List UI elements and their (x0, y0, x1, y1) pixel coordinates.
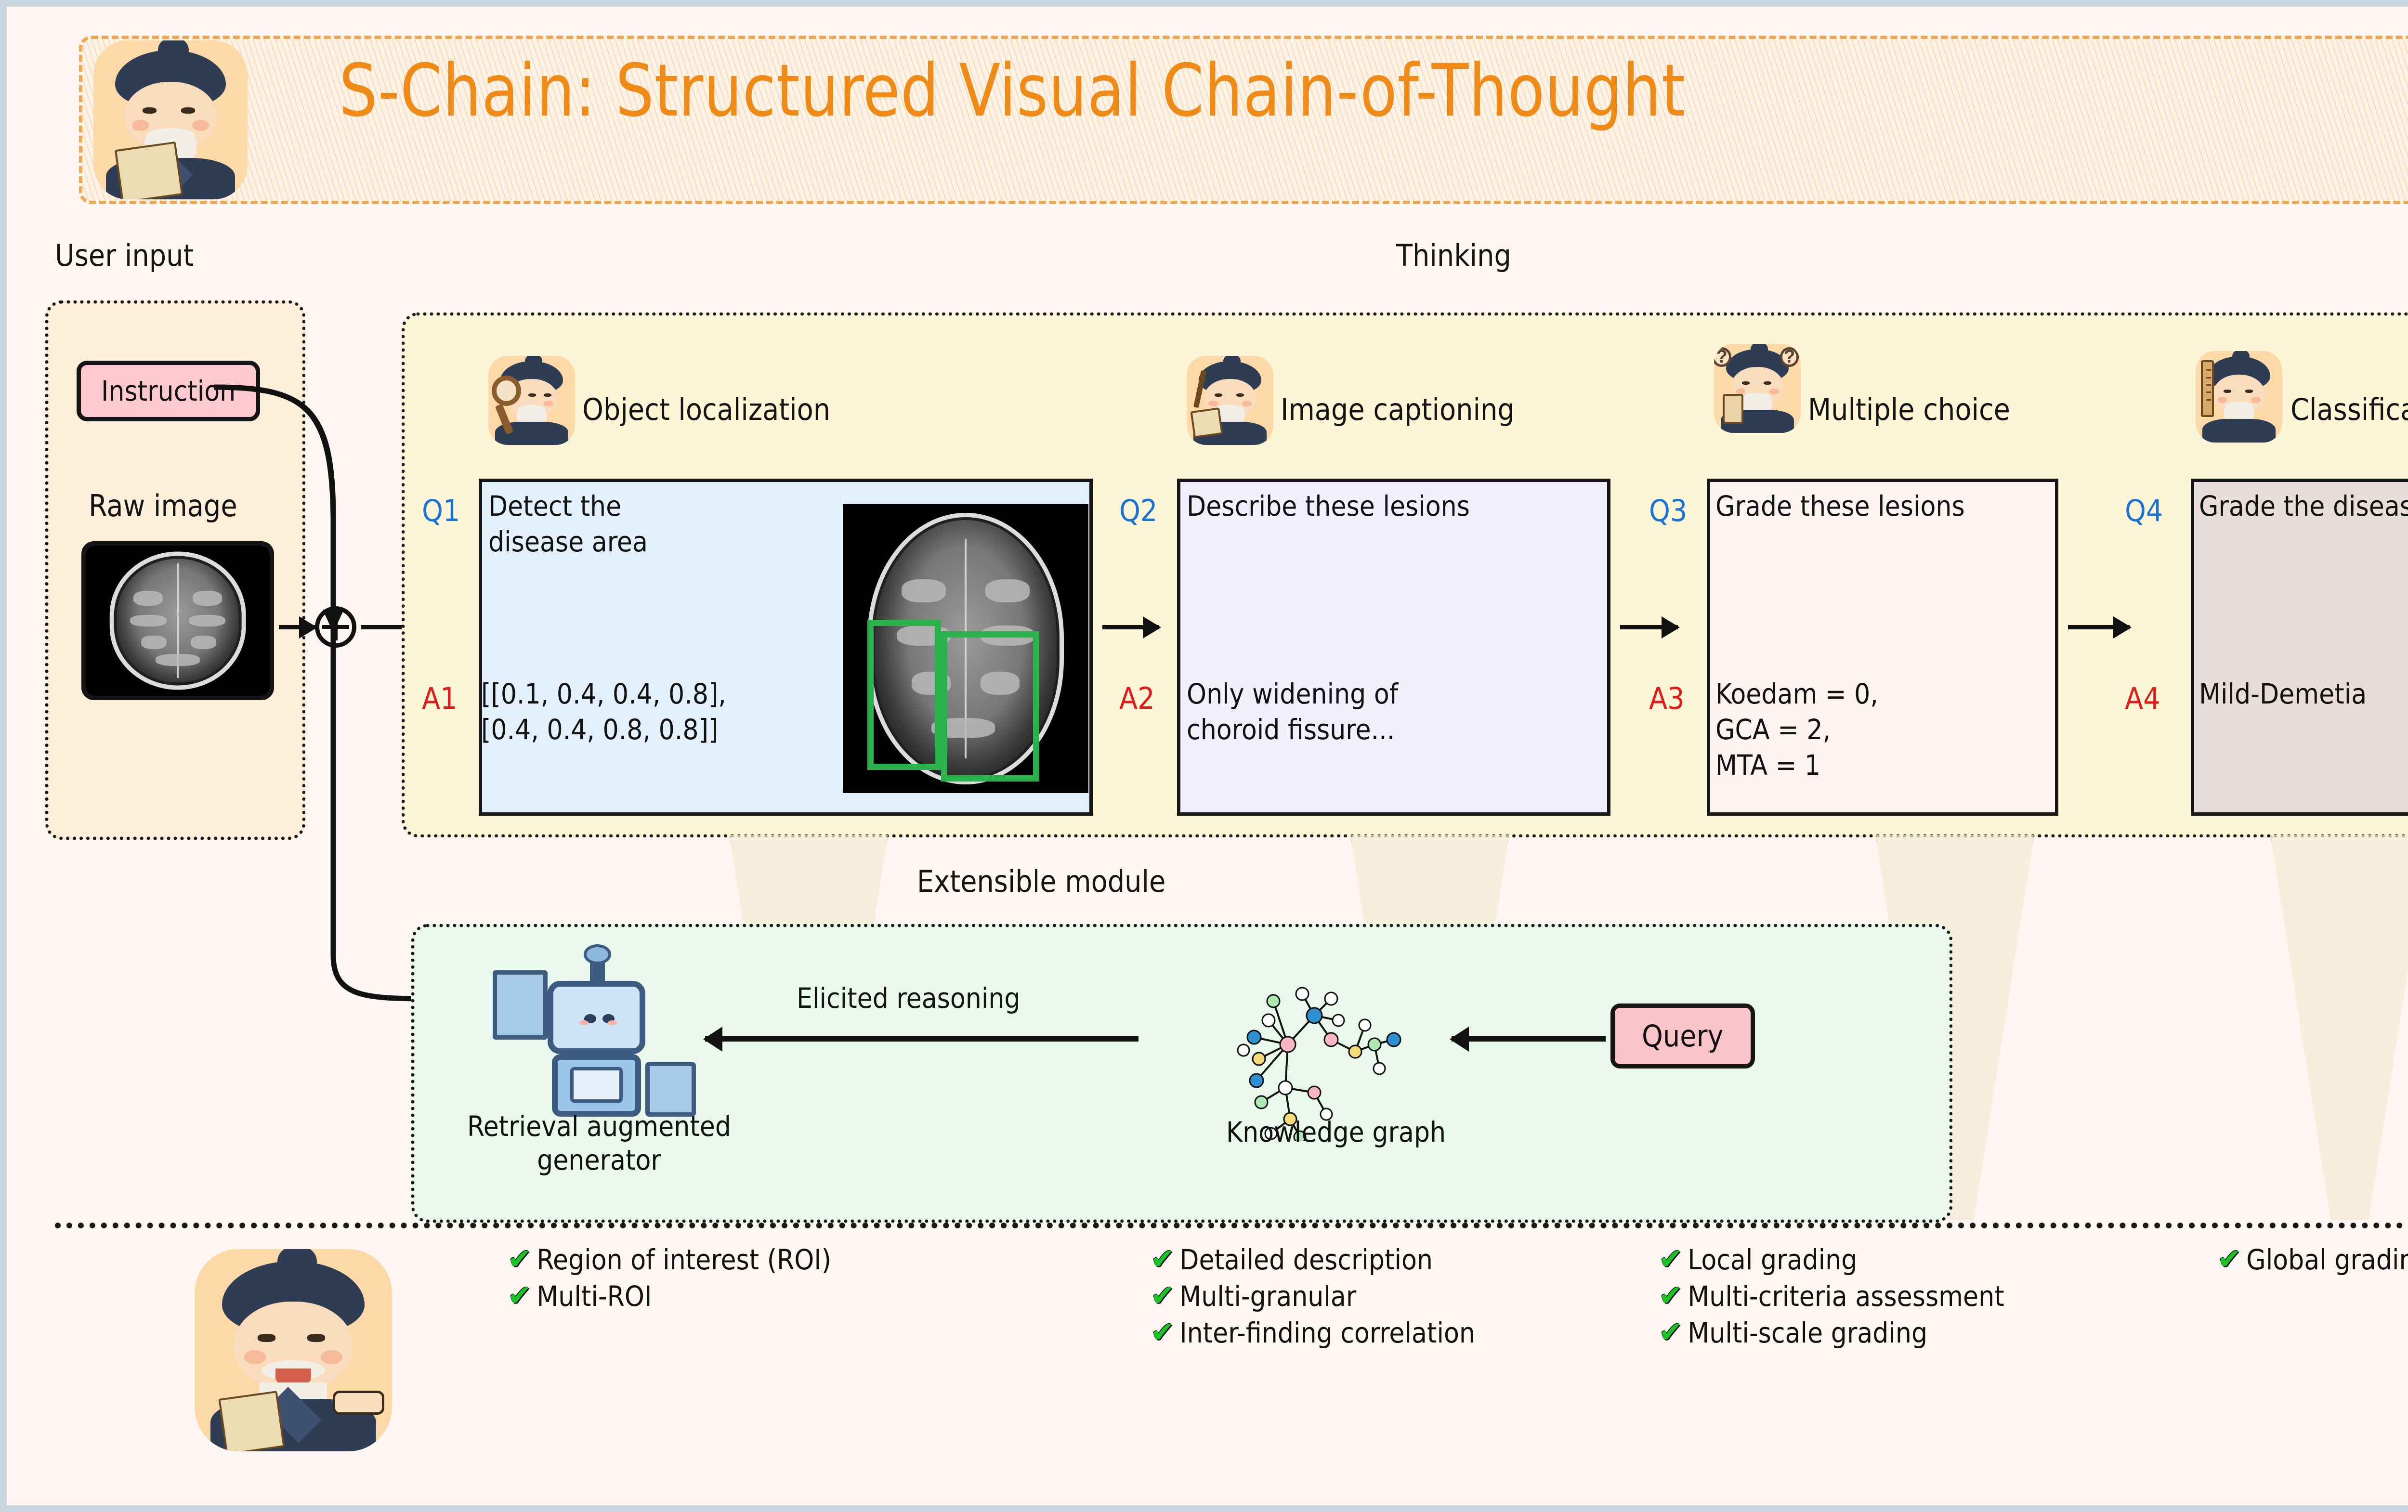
checklist-item-label: Multi-scale grading (1688, 1317, 1927, 1348)
checklist-item: ✔Detailed description (1151, 1244, 1475, 1275)
check-icon: ✔ (508, 1244, 532, 1274)
section-label-thinking: Thinking (1396, 238, 1511, 273)
a-tag-1: A1 (422, 681, 458, 716)
check-icon: ✔ (1151, 1244, 1175, 1274)
arrow-query-to-kg (1452, 1036, 1606, 1042)
question-text-4: Grade the disease (2199, 488, 2408, 524)
check-icon: ✔ (1659, 1244, 1683, 1274)
checklist-column-1: ✔Region of interest (ROI)✔Multi-ROI (508, 1244, 831, 1317)
sage-scholar-icon (93, 40, 248, 199)
page-title: S-Chain: Structured Visual Chain-of-Thou… (339, 31, 1686, 151)
arrow-panel3-to-panel4 (2068, 625, 2130, 629)
check-icon: ✔ (1151, 1281, 1175, 1311)
figure-canvas: S-Chain: Structured Visual Chain-of-Thou… (0, 0, 2408, 1512)
question-text-1: Detect the disease area (488, 488, 787, 560)
check-icon: ✔ (508, 1281, 532, 1311)
answer-text-4: Mild-Demetia (2199, 676, 2408, 712)
checklist-column-3: ✔Local grading✔Multi-criteria assessment… (1659, 1244, 2004, 1354)
qa-panel-image-captioning (1177, 479, 1610, 816)
rag-caption: Retrieval augmented generator (431, 1109, 768, 1177)
check-icon: ✔ (2217, 1244, 2241, 1274)
checklist-item: ✔Multi-criteria assessment (1659, 1281, 2004, 1312)
answer-text-3: Koedam = 0, GCA = 2, MTA = 1 (1715, 676, 2062, 783)
checklist-item: ✔Multi-ROI (508, 1281, 831, 1312)
task-label-classification: Classification (2290, 392, 2408, 427)
a-tag-4: A4 (2125, 681, 2160, 716)
task-label-multiple-choice: Multiple choice (1808, 392, 2010, 427)
checklist-item: ✔Inter-finding correlation (1151, 1317, 1475, 1348)
arrow-panel2-to-panel3 (1620, 625, 1678, 629)
question-text-2: Describe these lesions (1187, 488, 1620, 524)
checklist-item: ✔Local grading (1659, 1244, 2004, 1275)
checklist-item-label: Detailed description (1179, 1244, 1433, 1275)
sage-with-magnifier-icon (488, 356, 575, 445)
check-icon: ✔ (1659, 1281, 1683, 1311)
elicited-reasoning-label: Elicited reasoning (797, 982, 1021, 1015)
section-label-user-input: User input (55, 238, 194, 273)
checklist-item: ✔Global grading (2217, 1244, 2408, 1275)
answer-text-2: Only widening of choroid fissure... (1187, 676, 1620, 747)
sage-with-ruler-icon (2196, 351, 2282, 443)
checklist-item-label: Multi-criteria assessment (1688, 1281, 2004, 1312)
checklist-item-label: Multi-ROI (537, 1281, 652, 1312)
a-tag-3: A3 (1649, 681, 1685, 716)
q-tag-4: Q4 (2125, 493, 2163, 528)
checklist-item-label: Region of interest (ROI) (537, 1244, 831, 1275)
sage-confused-question-marks-icon (1714, 344, 1801, 433)
q-tag-2: Q2 (1119, 493, 1157, 528)
brain-mri-scan-with-bboxes-icon (843, 504, 1088, 793)
checklist-item-label: Global grading (2246, 1244, 2408, 1275)
task-label-object-localization: Object localization (582, 392, 830, 427)
funnel-4 (2270, 835, 2408, 1220)
sage-with-brush-icon (1187, 356, 1273, 445)
arrow-kg-to-rag (705, 1036, 1139, 1042)
section-label-extensible-module: Extensible module (917, 864, 1165, 899)
task-label-image-captioning: Image captioning (1281, 392, 1515, 427)
q-tag-3: Q3 (1649, 493, 1687, 528)
check-icon: ✔ (1659, 1317, 1683, 1347)
a-tag-2: A2 (1119, 681, 1155, 716)
checklist-item-label: Multi-granular (1179, 1281, 1356, 1312)
kg-caption: Knowledge graph (1177, 1114, 1495, 1150)
knowledge-graph-icon (1211, 948, 1461, 1141)
checklist-item: ✔Multi-granular (1151, 1281, 1475, 1312)
sage-pointing-icon (195, 1249, 392, 1451)
q-tag-1: Q1 (422, 493, 460, 528)
bbox-1 (867, 620, 941, 770)
checklist-column-2: ✔Detailed description✔Multi-granular✔Int… (1151, 1244, 1475, 1354)
checklist-column-4: ✔Global grading (2217, 1244, 2408, 1281)
qa-panel-classification (2191, 479, 2408, 816)
checklist-item-label: Local grading (1688, 1244, 1857, 1275)
check-icon: ✔ (1151, 1317, 1175, 1347)
bbox-2 (941, 631, 1039, 782)
query-chip[interactable]: Query (1610, 1004, 1755, 1069)
checklist-item: ✔Multi-scale grading (1659, 1317, 2004, 1348)
checklist-item-label: Inter-finding correlation (1179, 1317, 1475, 1348)
rag-robot-icon (488, 948, 700, 1131)
checklist-item: ✔Region of interest (ROI) (508, 1244, 831, 1275)
question-text-3: Grade these lesions (1715, 488, 2072, 524)
arrow-panel1-to-panel2 (1102, 625, 1159, 629)
divider (55, 1223, 2408, 1228)
answer-text-1: [[0.1, 0.4, 0.4, 0.8], [0.4, 0.4, 0.8, 0… (481, 676, 838, 747)
